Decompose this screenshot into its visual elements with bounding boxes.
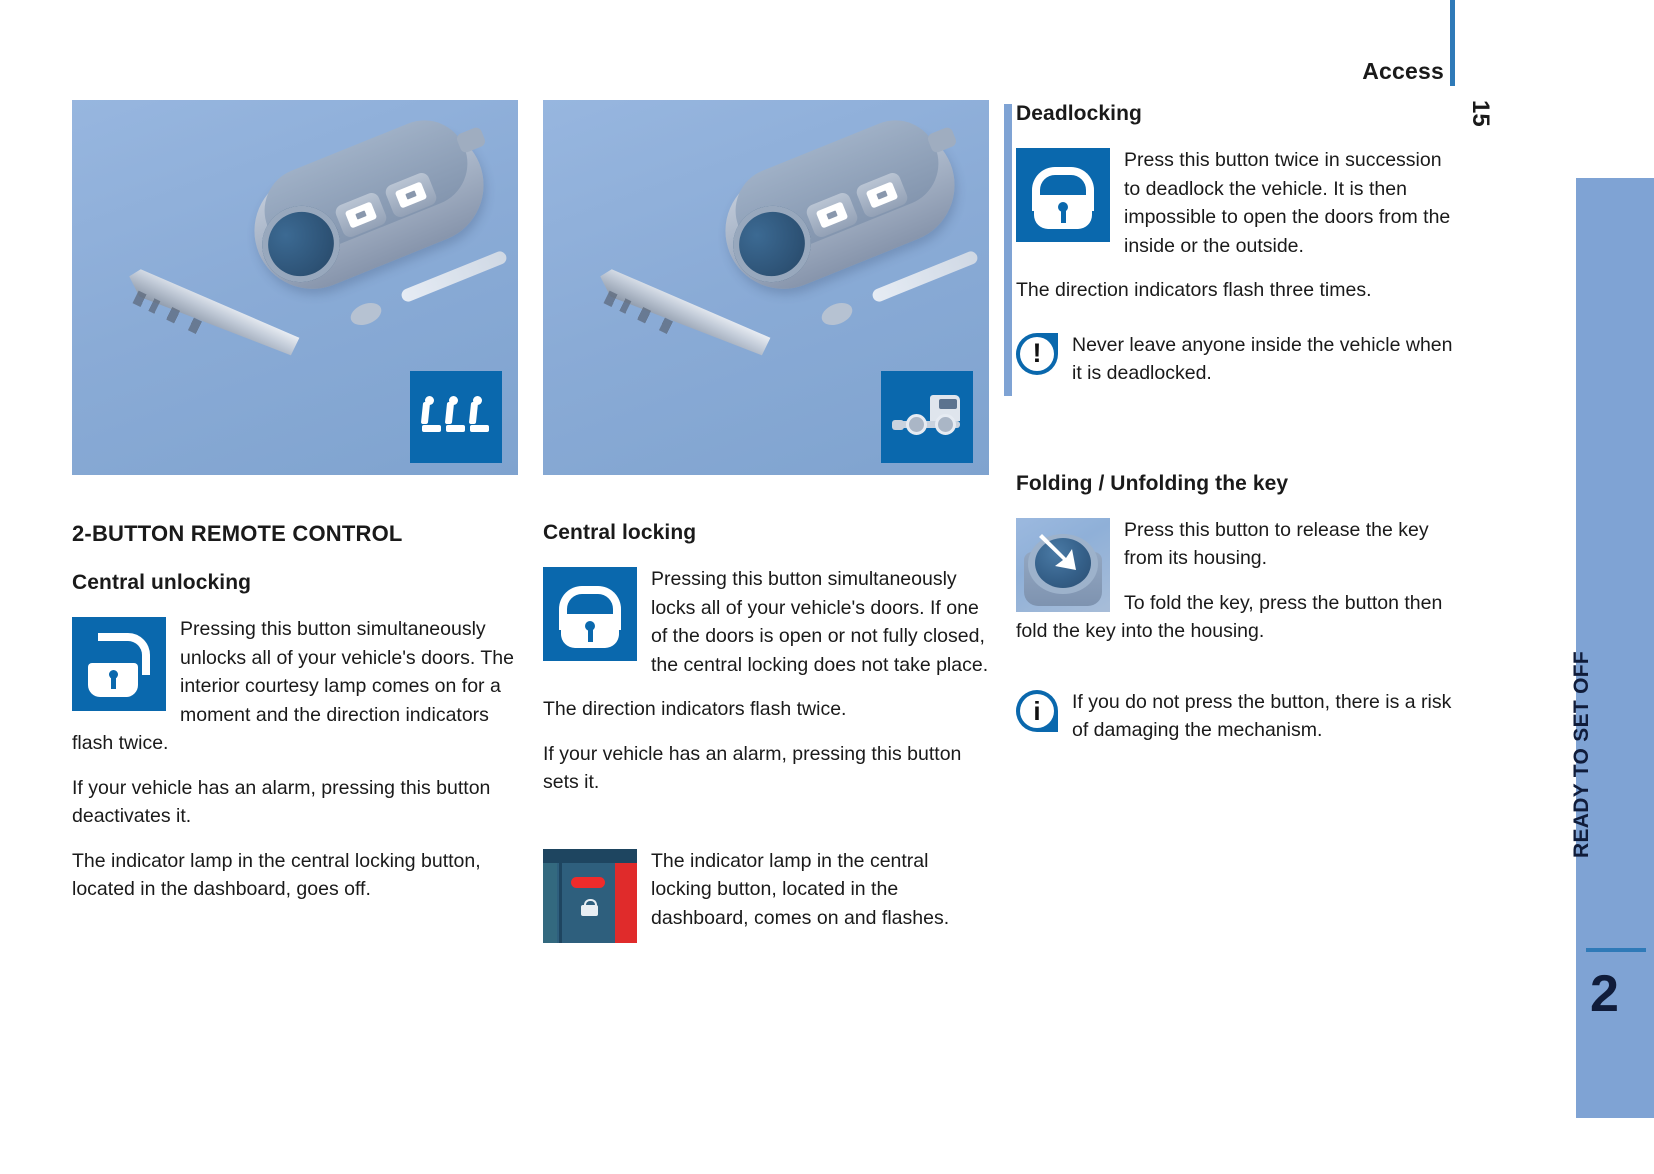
subsection-title-deadlocking: Deadlocking (1016, 102, 1456, 126)
dashboard-led (571, 877, 605, 888)
remote-key-figure-left (72, 100, 518, 475)
manual-page: Access 15 READY TO SET OFF 2 (0, 0, 1654, 1174)
section-title-2-button-remote-control: 2-BUTTON REMOTE CONTROL (72, 521, 518, 547)
deadlocking-warning-note: Never leave anyone inside the vehicle wh… (1016, 331, 1456, 388)
folding-info-text: If you do not press the button, there is… (1072, 688, 1456, 745)
deadlocking-warning-text: Never leave anyone inside the vehicle wh… (1072, 331, 1456, 388)
seat-glyph (470, 402, 490, 432)
page-title: Access (1362, 58, 1444, 85)
three-seats-icon (410, 371, 502, 463)
remote-key-figure-middle (543, 100, 989, 475)
dashboard-central-locking-button-photo (543, 849, 637, 943)
chapter-tab-label: READY TO SET OFF (1570, 651, 1594, 858)
padlock-open-icon (72, 617, 166, 711)
dashboard-lock-glyph (581, 899, 598, 916)
chapter-tab: READY TO SET OFF 2 (1576, 178, 1654, 1118)
key-stripe (871, 249, 980, 303)
left-column: 2-BUTTON REMOTE CONTROL Central unlockin… (72, 100, 518, 920)
key-led-indicator (347, 299, 384, 330)
subsection-title-central-unlocking: Central unlocking (72, 571, 518, 595)
padlock-closed-icon (1016, 148, 1110, 242)
central-locking-paragraph-2: The direction indicators flash twice. (543, 695, 989, 724)
right-column: Deadlocking Press this button twice in s… (1016, 100, 1456, 745)
chapter-tab-number: 2 (1590, 968, 1619, 1020)
central-locking-paragraph-3: If your vehicle has an alarm, pressing t… (543, 740, 989, 797)
warning-exclamation-icon (1016, 333, 1058, 375)
truck-wheel (935, 414, 956, 435)
header-accent-rule (1450, 0, 1455, 86)
info-i-icon (1016, 690, 1058, 732)
central-unlocking-paragraph-3: The indicator lamp in the central lockin… (72, 847, 518, 904)
subsection-title-folding-unfolding-the-key: Folding / Unfolding the key (1016, 472, 1456, 496)
key-stripe (400, 249, 509, 303)
key-led-indicator (818, 299, 855, 330)
subsection-title-central-locking: Central locking (543, 521, 989, 545)
press-arrow-icon (1036, 530, 1082, 576)
truck-nose (892, 420, 904, 430)
central-unlocking-paragraph-2: If your vehicle has an alarm, pressing t… (72, 774, 518, 831)
seat-glyph (422, 402, 442, 432)
right-column-accent-rule (1004, 104, 1012, 396)
truck-wheel (906, 414, 927, 435)
seat-glyph (446, 402, 466, 432)
chassis-cab-truck-icon (881, 371, 973, 463)
truck-window (939, 399, 957, 409)
folding-info-note: If you do not press the button, there is… (1016, 688, 1456, 745)
middle-column: Central locking Pressing this button sim… (543, 100, 989, 948)
deadlocking-paragraph-2: The direction indicators flash three tim… (1016, 276, 1456, 305)
padlock-closed-icon (543, 567, 637, 661)
key-release-button-photo (1016, 518, 1110, 612)
page-number: 15 (1466, 100, 1494, 127)
chapter-tab-divider (1586, 948, 1646, 952)
